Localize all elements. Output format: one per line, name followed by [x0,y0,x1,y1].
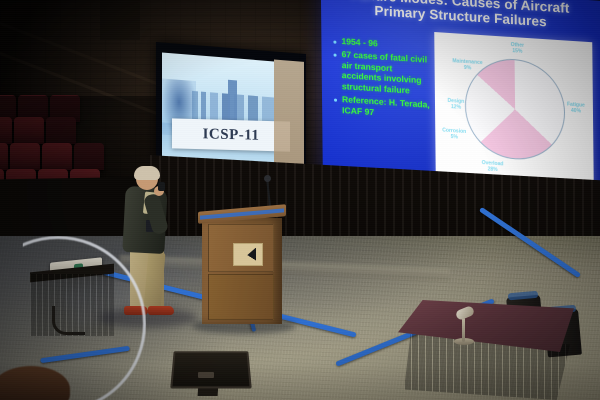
podium-panel-upper [208,224,274,272]
icsp-title-text: ICSP-11 [203,126,260,145]
presenter-shoe [148,306,174,315]
pie-label-other: Other15% [500,42,534,56]
podium-panel-lower [208,274,274,320]
seat [0,143,8,170]
head-table [398,300,588,400]
monitor-badge [198,372,214,378]
presenter-hair [134,166,160,180]
pie-label-design: Design12% [439,98,473,112]
slide-bullet: Reference: H. Terada, ICAF 97 [334,94,430,121]
presentation-photo: ICSP-11 Failure Modes: Causes of Aircraf… [0,0,600,400]
pie-label-maintenance: Maintenance9% [451,59,485,73]
seat [14,117,44,144]
seat [0,117,12,144]
seat [42,143,72,170]
chair-backrest [508,291,538,301]
monitor-screen [170,351,252,388]
pie-label-corrosion: Corrosion5% [437,128,471,142]
sail-logo-icon [240,248,256,262]
screen-unlit-area [274,59,304,169]
podium-microphone-icon [264,175,271,182]
pie-label-overload: Overload28% [476,161,510,175]
slide-bullet: 67 cases of fatal civil air transport ac… [333,49,429,97]
confidence-monitor [172,350,246,398]
podium-plaque [233,243,263,266]
pie-label-fatigue: Fatigue40% [559,102,593,116]
seat [46,117,76,144]
seat [74,143,104,170]
seat [10,143,40,170]
podium-body [202,218,282,324]
slide-title: Failure Modes: Causes of Aircraft Primar… [321,0,600,33]
podium [198,208,286,326]
slide-bullet-list: 1954 - 96 67 cases of fatal civil air tr… [333,36,430,125]
pie-chart-panel: Fatigue40% Overload28% Design12% Corrosi… [434,32,594,190]
presentation-remote-icon [158,182,165,191]
icsp-title-banner: ICSP-11 [172,118,290,151]
table-mic-stem [462,318,465,342]
